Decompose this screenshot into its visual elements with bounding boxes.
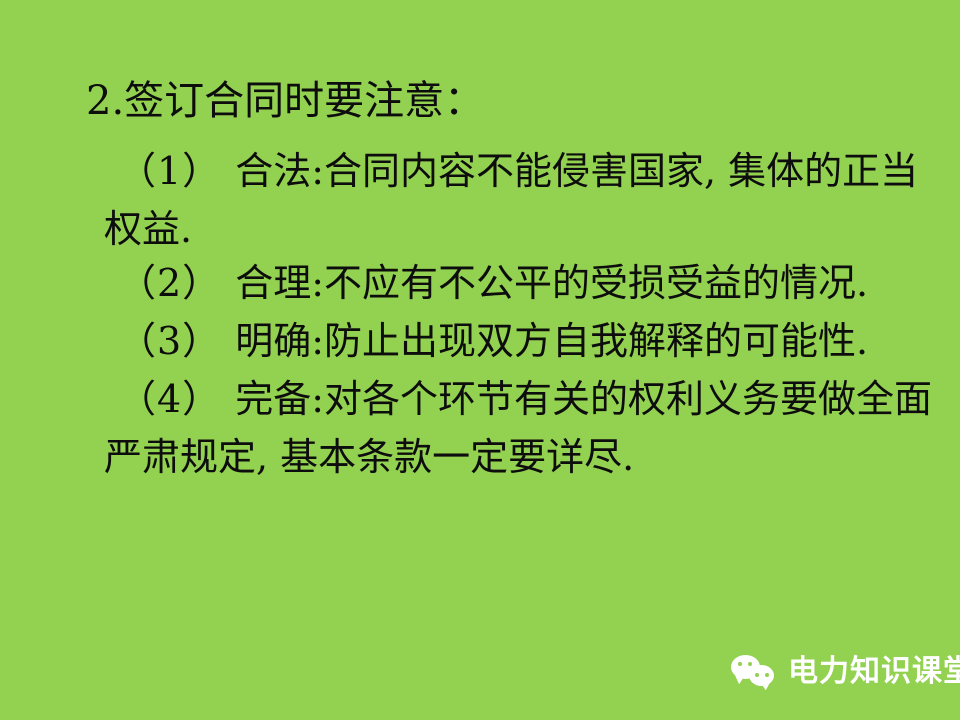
- watermark: 电力知识课堂: [731, 650, 960, 694]
- list-item-text: 合理:不应有不公平的受损受益的情况.: [235, 261, 868, 305]
- wechat-eye: [748, 662, 752, 666]
- wechat-eye: [755, 673, 759, 677]
- list-item: （3）明确:防止出现双方自我解释的可能性.: [104, 312, 948, 370]
- wechat-eye: [765, 673, 769, 677]
- list-item-marker: （4）: [118, 377, 221, 421]
- wechat-icon: [731, 653, 779, 691]
- list-item-text: 完备:对各个环节有关的权利义务要做全面严肃规定, 基本条款一定要详尽.: [104, 377, 932, 479]
- wechat-eye: [738, 662, 742, 666]
- list-item: （4）完备:对各个环节有关的权利义务要做全面严肃规定, 基本条款一定要详尽.: [104, 370, 948, 486]
- wechat-bubble-small: [749, 665, 774, 686]
- list-item-marker: （2）: [118, 261, 221, 305]
- slide-heading: 2.签订合同时要注意：: [86, 78, 484, 125]
- slide-canvas: 2.签订合同时要注意： （1）合法:合同内容不能侵害国家, 集体的正当权益. （…: [0, 0, 960, 720]
- watermark-label: 电力知识课堂: [788, 657, 960, 687]
- list-item-text: 明确:防止出现双方自我解释的可能性.: [235, 319, 868, 363]
- list-item-text: 合法:合同内容不能侵害国家, 集体的正当权益.: [104, 149, 918, 251]
- list-item: （2）合理:不应有不公平的受损受益的情况.: [104, 254, 948, 312]
- list-item-marker: （3）: [118, 319, 221, 363]
- list-item-marker: （1）: [118, 149, 221, 193]
- list-item: （1）合法:合同内容不能侵害国家, 集体的正当权益.: [104, 142, 948, 258]
